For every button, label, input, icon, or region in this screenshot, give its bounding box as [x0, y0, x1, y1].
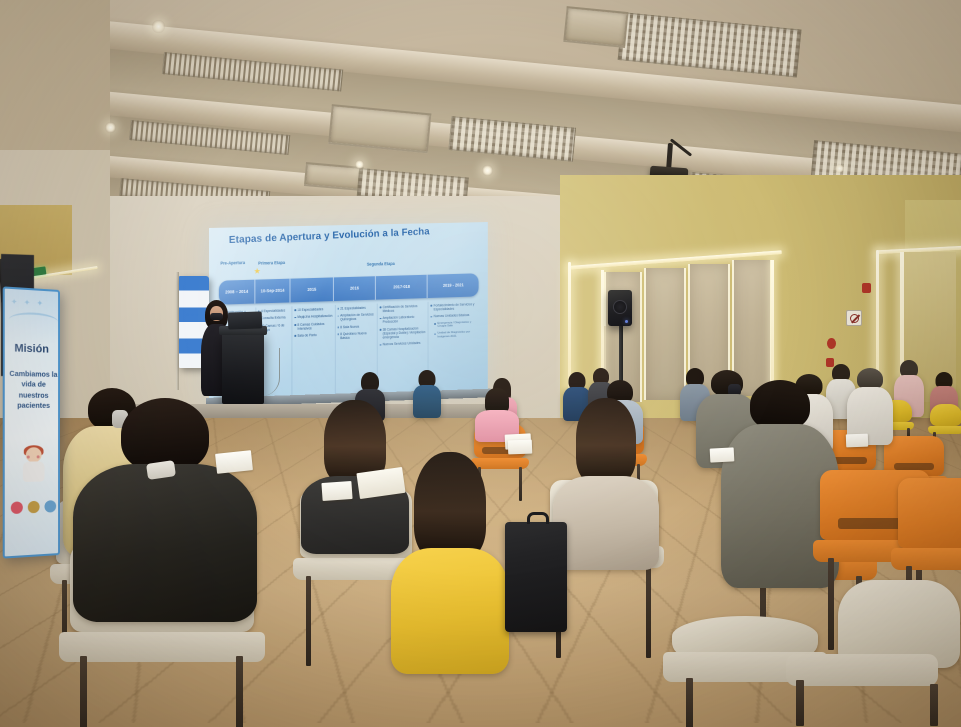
air-diffuser-1	[563, 6, 628, 48]
attendee-torso	[553, 476, 659, 570]
bullet-dot-icon	[431, 305, 432, 307]
slide-bullet: Медicina Hospitalización	[294, 314, 332, 319]
downlight-4	[355, 160, 364, 169]
conference-room-photo: Etapas de Apertura y Evolución a la Fech…	[0, 0, 961, 727]
light-diffuser-1	[618, 12, 802, 77]
bag-handle	[527, 512, 549, 524]
flag-stars-icon: ★★★	[186, 312, 200, 317]
chair-name-card-2	[321, 481, 352, 501]
bullet-dot-icon	[434, 333, 435, 335]
attendee-torso	[413, 385, 441, 418]
chair-leg	[236, 656, 243, 727]
attendee-right-4	[846, 368, 894, 442]
slide-bullet: Certificación de Servicios Médicos	[380, 304, 426, 314]
chair-back	[930, 404, 961, 426]
chair-leg	[519, 467, 522, 501]
window-frame-glow-right	[771, 260, 774, 397]
chair-leg	[686, 678, 693, 727]
slide-bullet: 8 Camas Cuidados Intensivos	[294, 321, 332, 330]
laptop	[228, 311, 263, 329]
chair-cream-foreground-2[interactable]	[790, 580, 960, 727]
banner-gloss	[5, 289, 58, 557]
bullet-dot-icon	[294, 335, 296, 337]
chair-name-card-5	[710, 447, 735, 462]
attendee-hair	[414, 452, 486, 560]
bullet-dot-icon	[337, 326, 339, 328]
speaker-power-led	[625, 320, 628, 323]
chair-seat	[786, 654, 938, 686]
slide-bullet: Ampliación de Servicios Quirúrgicos	[337, 313, 375, 322]
attendee-back-2	[413, 370, 441, 418]
chair-back	[898, 478, 961, 548]
timeline-cell-2: 10-Sep-2014	[255, 278, 291, 303]
timeline-header-bar: 2008 – 2014 10-Sep-2014 2015 2016 2017-0…	[219, 273, 478, 304]
presenter-face-mask	[210, 313, 223, 320]
slide-bullet: 10 Especialidades	[294, 307, 332, 312]
slide-bullet: 8 Sala Nueva	[337, 324, 375, 329]
bullet-dot-icon	[294, 324, 296, 326]
chair-leg	[930, 684, 938, 726]
bullet-dot-icon	[380, 329, 382, 331]
mision-rollup-banner: ✦ ✦ ✦ Misión Cambiamos la vida de nuestr…	[3, 286, 60, 558]
bullet-dot-icon	[337, 315, 339, 317]
downlight-2	[482, 165, 493, 176]
bullet-dot-icon	[380, 318, 382, 320]
bullet-dot-icon	[337, 334, 339, 336]
chair-name-card-6	[846, 434, 868, 448]
fire-extinguisher-icon	[827, 338, 836, 349]
downlight-3	[105, 122, 116, 133]
slide-bullet: Consulta Externa	[258, 316, 290, 321]
slide-bullet: Ampliación Laboratorio Producción	[380, 315, 426, 325]
chair-name-card-1	[215, 450, 253, 474]
slide-bullet: 8 Quirófano Nueva Básica	[337, 331, 375, 340]
attendee-front-dark-sweater	[72, 398, 258, 628]
attendee-front-grey-blazer	[552, 398, 660, 568]
cove-light-right-side	[568, 262, 571, 390]
chair-leg	[80, 656, 87, 727]
chair-name-card-4	[508, 440, 532, 455]
slide-bullet: 38 Camas Hospitalización (Especial y Dob…	[380, 326, 426, 340]
downlight-1	[152, 20, 165, 33]
timeline-cell-5: 2017-018	[376, 275, 428, 300]
bullet-dot-icon	[294, 317, 296, 319]
lectern	[222, 332, 264, 404]
bullet-dot-icon	[337, 308, 339, 310]
timeline-cell-6: 2019 - 2021	[428, 273, 478, 297]
phase-label-pre-apertura: Pre-Apertura	[220, 260, 245, 266]
phase-label-primera-etapa: Primera Etapa	[258, 260, 285, 266]
slide-bullet: Sala de Parto	[294, 332, 332, 337]
slide-bullet-sub: Emergencia / Diagnóstico y Cirugía Sala	[434, 320, 476, 329]
timeline-cell-1: 2008 – 2014	[219, 279, 255, 304]
slide-column-3: 10 Especialidades Медicina Hospitalizaci…	[292, 305, 335, 397]
fire-alarm-icon	[862, 283, 871, 293]
attendee-torso	[73, 464, 257, 622]
downlight-5	[835, 164, 844, 173]
attendee-hair	[576, 398, 636, 484]
bullet-dot-icon	[294, 309, 296, 311]
slide-bullet: Nuevas Unidades Básicas	[431, 313, 477, 319]
chair-seat	[59, 632, 265, 662]
slide-bullet: 21 Especialidades	[337, 306, 375, 311]
slide-title: Etapas de Apertura y Evolución a la Fech…	[229, 225, 474, 246]
timeline-cell-4: 2016	[334, 276, 376, 301]
attendee-torso	[391, 548, 509, 674]
chair-leg	[646, 564, 651, 658]
slide-bullet: Nuevos Servicios Unidades	[380, 341, 426, 347]
chair-backrest-slot	[894, 463, 935, 470]
attendee-row2-pink	[474, 388, 520, 440]
no-smoking-icon	[850, 314, 859, 323]
bullet-dot-icon	[431, 316, 432, 318]
slide-bullet: Fortalecimiento de Servicios y Especiali…	[431, 302, 477, 311]
slide-bullet-sub: Unidad de Diagnóstico por Imágenes 2021	[434, 331, 476, 340]
bullet-dot-icon	[434, 323, 435, 325]
chair-seat	[891, 548, 961, 570]
suitcase-bag	[505, 522, 567, 632]
chair-leg	[306, 576, 311, 666]
timeline-cell-3: 2015	[291, 277, 334, 302]
bullet-dot-icon	[380, 344, 382, 346]
bullet-dot-icon	[380, 307, 382, 309]
slide-bullet: 4 Especialidades	[258, 308, 290, 313]
no-smoking-sign	[846, 310, 862, 326]
attendee-hair	[750, 380, 810, 430]
phase-label-segunda-etapa: Segunda Etapa	[367, 261, 395, 267]
chair-leg	[796, 680, 804, 726]
speaker-woofer-icon	[613, 300, 627, 314]
